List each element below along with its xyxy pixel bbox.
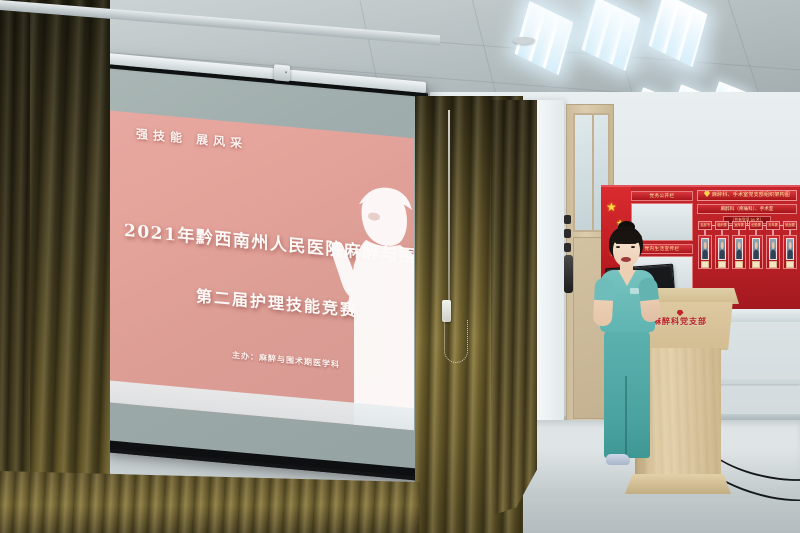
org-card-label: 组织委员 — [715, 221, 729, 230]
screen-surface: 强技能 展风采 2021年黔西南州人民医院麻醉与围术期医学科 第二届护理技能竞赛… — [108, 68, 416, 468]
org-chart-title-row: 麻醉科、手术室党支部组织架构图 — [697, 190, 797, 201]
org-card-label: 统战委员 — [783, 221, 797, 230]
screenshot-root: ★ ★ ★ ★ ★ 党务公开栏 党内生活宣传栏 麻醉科、手术室党支部组织架构图 … — [0, 0, 800, 533]
party-affairs-header: 党务公开栏 — [631, 191, 693, 201]
member-photo — [701, 238, 709, 260]
org-card-label: 宣传委员 — [732, 221, 746, 230]
curtain-pull-chain[interactable] — [448, 110, 450, 310]
org-chart-card: 宣传委员 — [732, 221, 746, 269]
presentation-slide: 强技能 展风采 2021年黔西南州人民医院麻醉与围术期医学科 第二届护理技能竞赛… — [110, 111, 414, 431]
podium-base — [625, 474, 731, 494]
curtain-chain-loop — [444, 320, 468, 363]
right-arm — [638, 277, 661, 323]
party-emblem-icon — [704, 191, 710, 197]
org-chart-card: 纪检委员 — [749, 221, 763, 269]
org-card-label: 纪检委员 — [749, 221, 763, 230]
org-card-label: 青年委员 — [766, 221, 780, 230]
mouth — [621, 257, 631, 262]
org-chart-subtitle: 麻醉科（疼痛科）、手术室 — [697, 204, 797, 214]
org-chart-card: 统战委员 — [783, 221, 797, 269]
member-photo — [735, 238, 743, 260]
stage-curtain-right-outer[interactable] — [491, 100, 537, 520]
smoke-detector — [513, 37, 535, 44]
left-arm — [593, 278, 614, 327]
curtain-chain-weight[interactable] — [442, 300, 451, 322]
stage-curtain-left-inner[interactable] — [0, 0, 30, 533]
slide-tagline: 强技能 展风采 — [136, 125, 247, 152]
scrub-pants — [604, 330, 650, 458]
org-chart: 麻醉科、手术室党支部组织架构图 麻醉科（疼痛科）、手术室 （共有党员 54 名） — [697, 190, 797, 224]
org-chart-title: 麻醉科、手术室党支部组织架构图 — [712, 192, 790, 198]
shoe — [606, 454, 630, 465]
member-photo — [718, 238, 726, 260]
nurse-silhouette-icon — [304, 176, 414, 430]
door-handle-icon[interactable] — [564, 255, 573, 293]
member-photo — [769, 238, 777, 260]
org-chart-card: 支部书记 — [698, 221, 712, 269]
presenter — [592, 226, 664, 476]
id-badge — [630, 288, 639, 294]
projection-screen: 强技能 展风采 2021年黔西南州人民医院麻醉与围术期医学科 第二届护理技能竞赛… — [104, 64, 420, 473]
member-photo — [752, 238, 760, 260]
org-chart-card: 组织委员 — [715, 221, 729, 269]
member-photo — [786, 238, 794, 260]
org-card-label: 支部书记 — [698, 221, 712, 230]
org-chart-card: 青年委员 — [766, 221, 780, 269]
